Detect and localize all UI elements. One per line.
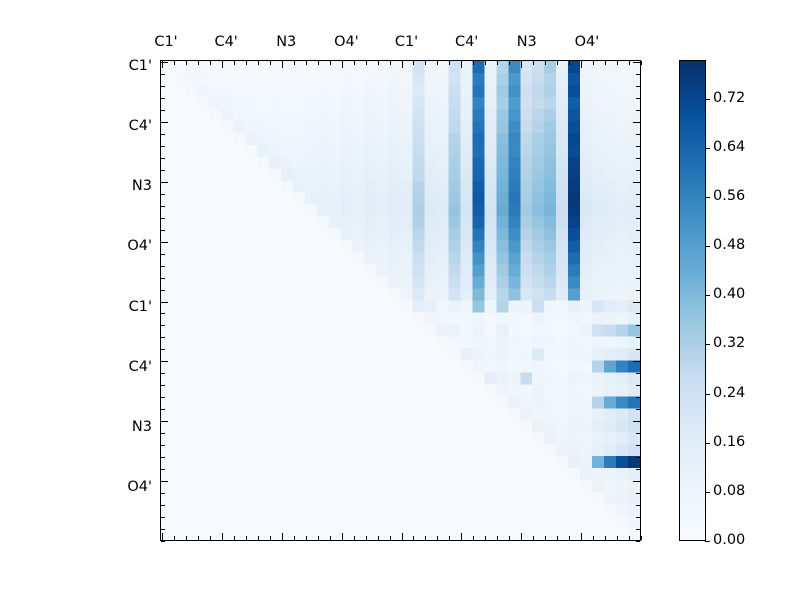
y-tick [636, 457, 640, 458]
x-tick-label: C1' [154, 35, 177, 50]
x-tick [641, 536, 642, 540]
x-tick [354, 61, 355, 65]
colorbar-tick-label: 0.64 [713, 140, 745, 155]
y-tick [636, 397, 640, 398]
colorbar-tick-label: 0.56 [713, 189, 745, 204]
y-tick [161, 445, 165, 446]
x-tick [533, 536, 534, 540]
x-tick [246, 61, 247, 65]
x-tick [605, 61, 606, 65]
x-tick [485, 61, 486, 65]
y-tick [161, 290, 165, 291]
x-tick-label: C4' [214, 35, 237, 50]
y-tick [633, 62, 640, 63]
x-tick [509, 536, 510, 540]
x-tick [330, 536, 331, 540]
y-tick [161, 158, 165, 159]
x-tick [425, 536, 426, 540]
x-tick [318, 61, 319, 65]
colorbar-tick [705, 541, 710, 542]
x-tick [318, 536, 319, 540]
x-tick [258, 61, 259, 65]
y-tick [636, 86, 640, 87]
y-tick-label: N3 [102, 420, 152, 435]
x-tick [629, 61, 630, 65]
x-tick [186, 536, 187, 540]
y-tick [161, 302, 168, 303]
x-tick [390, 536, 391, 540]
x-tick [437, 536, 438, 540]
y-tick [636, 337, 640, 338]
colorbar-tick [705, 394, 710, 395]
x-tick [461, 61, 462, 68]
y-tick [636, 445, 640, 446]
x-tick [174, 61, 175, 65]
y-tick [636, 313, 640, 314]
colorbar-tick [705, 443, 710, 444]
x-tick [162, 533, 163, 540]
x-tick [533, 61, 534, 65]
x-tick [449, 61, 450, 65]
x-tick [270, 61, 271, 65]
y-tick [161, 98, 165, 99]
y-tick [636, 170, 640, 171]
y-tick [636, 541, 640, 542]
x-tick [593, 536, 594, 540]
y-tick [636, 254, 640, 255]
y-tick [161, 505, 165, 506]
y-tick [161, 86, 165, 87]
x-tick [222, 61, 223, 68]
colorbar-tick-label: 0.40 [713, 287, 745, 302]
x-tick [378, 536, 379, 540]
y-tick [636, 146, 640, 147]
y-tick [633, 122, 640, 123]
x-tick [545, 536, 546, 540]
y-tick [161, 206, 165, 207]
y-tick [161, 313, 165, 314]
x-tick [390, 61, 391, 65]
y-tick [161, 230, 165, 231]
y-tick [636, 505, 640, 506]
y-tick [161, 457, 165, 458]
y-tick [161, 170, 165, 171]
y-tick [633, 421, 640, 422]
x-tick [234, 536, 235, 540]
y-tick [633, 361, 640, 362]
y-tick [636, 194, 640, 195]
x-tick [234, 61, 235, 65]
x-tick [210, 536, 211, 540]
y-tick [636, 493, 640, 494]
x-tick [473, 61, 474, 65]
x-tick [509, 61, 510, 65]
y-tick [636, 433, 640, 434]
x-tick-label: C1' [395, 35, 418, 50]
y-tick-label: C4' [102, 119, 152, 134]
x-tick-label: C4' [455, 35, 478, 50]
colorbar-tick-label: 0.08 [713, 484, 745, 499]
x-tick [569, 536, 570, 540]
y-tick [161, 74, 165, 75]
colorbar-tick [705, 344, 710, 345]
x-tick [294, 536, 295, 540]
x-tick [402, 533, 403, 540]
heatmap-axes [160, 60, 641, 541]
y-tick [161, 361, 168, 362]
y-tick [636, 469, 640, 470]
x-tick [413, 61, 414, 65]
y-tick [161, 529, 165, 530]
y-tick [636, 278, 640, 279]
y-tick [636, 74, 640, 75]
colorbar-tick-label: 0.72 [713, 91, 745, 106]
x-tick [449, 536, 450, 540]
colorbar-gradient [680, 61, 705, 540]
x-tick [437, 61, 438, 65]
x-tick [378, 61, 379, 65]
y-tick [161, 433, 165, 434]
x-tick [581, 61, 582, 68]
x-tick [366, 536, 367, 540]
x-tick [617, 61, 618, 65]
colorbar-tick-label: 0.48 [713, 238, 745, 253]
y-tick-label: N3 [102, 179, 152, 194]
y-tick [636, 409, 640, 410]
x-tick [270, 536, 271, 540]
x-tick [306, 536, 307, 540]
y-tick [161, 134, 165, 135]
x-tick [366, 61, 367, 65]
x-tick [581, 533, 582, 540]
x-tick [521, 533, 522, 540]
y-tick [636, 517, 640, 518]
colorbar-tick-label: 0.32 [713, 336, 745, 351]
x-tick-label: N3 [276, 35, 296, 50]
x-tick [425, 61, 426, 65]
x-tick [198, 61, 199, 65]
y-tick [161, 385, 165, 386]
colorbar-axes [679, 60, 706, 541]
x-tick [342, 533, 343, 540]
y-tick [636, 158, 640, 159]
x-tick-label: O4' [575, 35, 600, 50]
y-tick [633, 242, 640, 243]
x-tick [557, 536, 558, 540]
y-tick [636, 230, 640, 231]
colorbar-tick [705, 295, 710, 296]
figure-canvas: C1'C4'N3O4'C1'C4'N3O4' C1'C4'N3O4'C1'C4'… [0, 0, 800, 600]
y-tick-label: O4' [102, 239, 152, 254]
y-tick [161, 110, 165, 111]
y-tick [161, 218, 165, 219]
y-tick [161, 146, 165, 147]
colorbar-tick [705, 197, 710, 198]
colorbar-tick-label: 0.24 [713, 385, 745, 400]
y-tick [161, 481, 168, 482]
y-tick [633, 481, 640, 482]
x-tick [593, 61, 594, 65]
x-tick [641, 61, 642, 65]
y-tick [636, 98, 640, 99]
x-tick [557, 61, 558, 65]
x-tick [497, 536, 498, 540]
y-tick [161, 421, 168, 422]
x-tick [605, 536, 606, 540]
x-tick [198, 536, 199, 540]
x-tick [617, 536, 618, 540]
x-tick [521, 61, 522, 68]
x-tick [629, 536, 630, 540]
y-tick [636, 134, 640, 135]
y-tick [636, 529, 640, 530]
y-tick [161, 469, 165, 470]
y-tick [161, 182, 168, 183]
y-tick [161, 349, 165, 350]
y-tick [636, 385, 640, 386]
x-tick [174, 536, 175, 540]
y-tick [161, 517, 165, 518]
y-tick [636, 110, 640, 111]
y-tick [161, 373, 165, 374]
y-tick [161, 122, 168, 123]
x-tick [485, 536, 486, 540]
y-tick [161, 325, 165, 326]
y-tick [161, 278, 165, 279]
x-tick [246, 536, 247, 540]
x-tick [545, 61, 546, 65]
x-tick [342, 61, 343, 68]
heatmap-image [161, 61, 640, 540]
y-tick [161, 541, 165, 542]
x-tick-label: O4' [334, 35, 359, 50]
x-tick [354, 536, 355, 540]
x-tick [282, 61, 283, 68]
x-tick-label: N3 [517, 35, 537, 50]
y-tick [161, 62, 168, 63]
y-tick-label: C4' [102, 359, 152, 374]
x-tick [461, 533, 462, 540]
x-tick [497, 61, 498, 65]
x-tick [330, 61, 331, 65]
y-tick [636, 218, 640, 219]
colorbar-tick-label: 0.16 [713, 434, 745, 449]
x-tick [473, 536, 474, 540]
y-tick [161, 397, 165, 398]
y-tick [633, 182, 640, 183]
y-tick [161, 493, 165, 494]
x-tick [282, 533, 283, 540]
x-tick [222, 533, 223, 540]
colorbar-tick [705, 99, 710, 100]
y-tick-label: O4' [102, 480, 152, 495]
colorbar-tick [705, 246, 710, 247]
y-tick [161, 242, 168, 243]
y-tick [161, 254, 165, 255]
colorbar-tick-label: 0.00 [713, 533, 745, 548]
x-tick [306, 61, 307, 65]
y-tick [636, 290, 640, 291]
x-tick [413, 536, 414, 540]
y-tick [636, 373, 640, 374]
y-tick [636, 325, 640, 326]
y-tick [161, 194, 165, 195]
y-tick-label: C1' [102, 299, 152, 314]
y-tick [636, 206, 640, 207]
x-tick [402, 61, 403, 68]
x-tick [258, 536, 259, 540]
y-tick [161, 266, 165, 267]
colorbar-tick [705, 148, 710, 149]
y-tick [636, 266, 640, 267]
y-tick-label: C1' [102, 59, 152, 74]
x-tick [569, 61, 570, 65]
y-tick [636, 349, 640, 350]
y-tick [161, 409, 165, 410]
x-tick [294, 61, 295, 65]
x-tick [210, 61, 211, 65]
x-tick [186, 61, 187, 65]
y-tick [633, 302, 640, 303]
colorbar-tick [705, 492, 710, 493]
y-tick [161, 337, 165, 338]
